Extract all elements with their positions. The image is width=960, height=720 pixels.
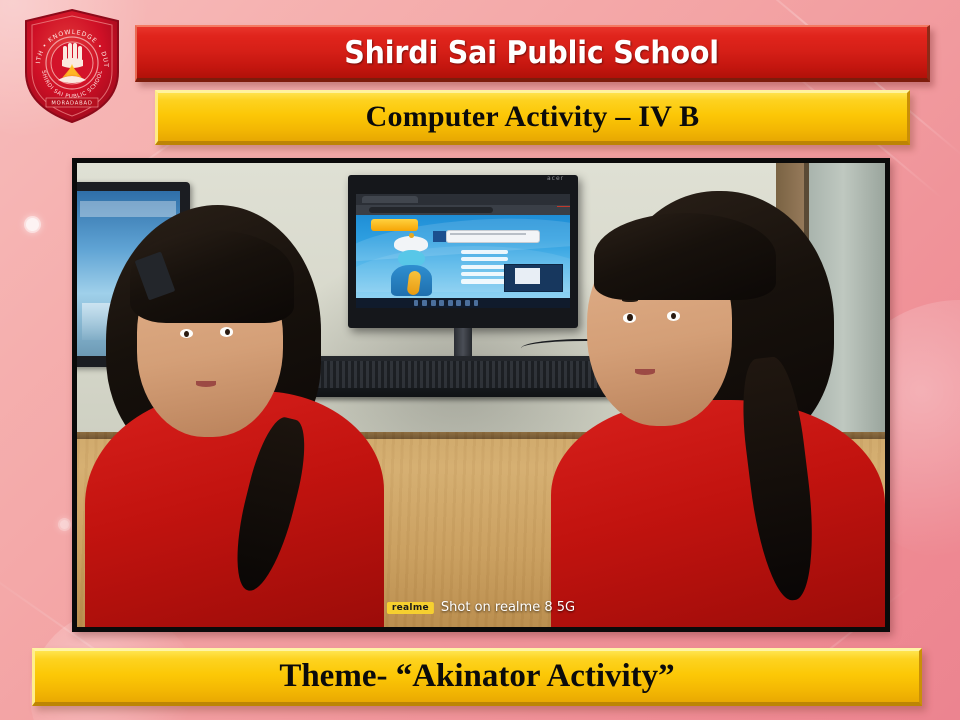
theme-banner: Theme- “Akinator Activity”: [32, 648, 922, 706]
eye: [220, 327, 233, 336]
student-left: [85, 205, 432, 627]
student-right: [521, 191, 885, 627]
answer-option: [461, 279, 508, 283]
mouth: [635, 369, 655, 375]
activity-subtitle-text: Computer Activity – IV B: [366, 100, 700, 134]
activity-subtitle-banner: Computer Activity – IV B: [155, 90, 910, 145]
school-name-banner: Shirdi Sai Public School: [135, 25, 930, 82]
classroom-photo: acer: [77, 163, 885, 627]
answer-option: [461, 272, 508, 276]
school-crest: FAITH • KNOWLEDGE • DUTY SHIRDI SAI PUBL…: [18, 6, 126, 126]
taskbar-icon: [439, 300, 444, 306]
acer-logo: acer: [547, 175, 564, 182]
mouth: [196, 381, 216, 387]
eye: [180, 329, 193, 338]
browser-tab: [362, 196, 418, 203]
taskbar-icon: [448, 300, 453, 306]
realme-badge: realme: [387, 602, 434, 614]
watermark-text: Shot on realme 8 5G: [441, 600, 575, 615]
answer-option: [461, 265, 508, 269]
eye: [623, 313, 636, 323]
question-icon: [433, 231, 446, 243]
eye: [667, 311, 680, 321]
decorative-dot: [26, 218, 39, 231]
classroom-photo-frame: acer: [72, 158, 890, 632]
taskbar-icon: [465, 300, 470, 306]
taskbar-icon: [474, 300, 479, 306]
crest-city: MORADABAD: [51, 101, 92, 107]
shield-icon: FAITH • KNOWLEDGE • DUTY SHIRDI SAI PUBL…: [18, 6, 126, 126]
red-sweater: [551, 400, 886, 627]
hair-top: [594, 213, 776, 300]
school-name-text: Shirdi Sai Public School: [345, 35, 720, 71]
decorative-dot: [60, 520, 69, 529]
answer-option: [461, 250, 508, 254]
answer-option: [461, 257, 508, 261]
taskbar-icon: [456, 300, 461, 306]
theme-text: Theme- “Akinator Activity”: [279, 658, 674, 695]
camera-watermark: realme Shot on realme 8 5G: [387, 600, 575, 615]
presentation-slide: FAITH • KNOWLEDGE • DUTY SHIRDI SAI PUBL…: [0, 0, 960, 720]
